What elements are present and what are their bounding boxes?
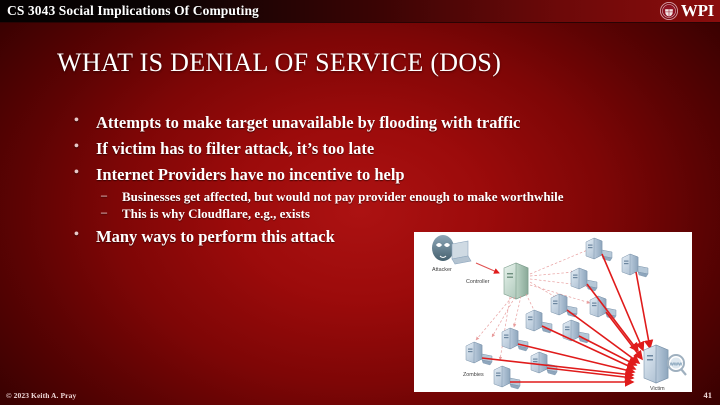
svg-text:WWW: WWW xyxy=(670,362,683,367)
bullet-text: Attempts to make target unavailable by f… xyxy=(96,113,520,132)
sub-bullet-item: Businesses get affected, but would not p… xyxy=(96,188,670,205)
slide-body: Attempts to make target unavailable by f… xyxy=(70,112,670,252)
bullet-text: If victim has to filter attack, it’s too… xyxy=(96,139,374,158)
bullet-item: Attempts to make target unavailable by f… xyxy=(70,112,670,135)
bullet-text: Many ways to perform this attack xyxy=(96,227,335,246)
wpi-seal-icon xyxy=(660,2,678,20)
sub-bullet-text: Businesses get affected, but would not p… xyxy=(122,189,564,204)
wpi-logo: WPI xyxy=(660,1,714,21)
sub-bullet-list: Businesses get affected, but would not p… xyxy=(96,188,670,222)
slide-header: CS 3043 Social Implications Of Computing… xyxy=(0,0,720,23)
victim-label: Victim xyxy=(650,386,665,392)
ddos-diagram-svg: Attacker Controller xyxy=(414,232,692,392)
slide-title: WHAT IS DENIAL OF SERVICE (DOS) xyxy=(57,48,501,78)
bullet-list: Attempts to make target unavailable by f… xyxy=(70,112,670,248)
slide-number: 41 xyxy=(704,390,713,400)
sub-bullet-text: This is why Cloudflare, e.g., exists xyxy=(122,206,310,221)
zombies-label: Zombies xyxy=(463,372,484,378)
course-title: CS 3043 Social Implications Of Computing xyxy=(0,3,259,19)
copyright-notice: © 2023 Keith A. Pray xyxy=(6,391,76,400)
bullet-item: If victim has to filter attack, it’s too… xyxy=(70,138,670,161)
wpi-wordmark: WPI xyxy=(681,2,714,20)
controller-icon xyxy=(504,263,528,299)
bullet-text: Internet Providers have no incentive to … xyxy=(96,165,405,184)
controller-label: Controller xyxy=(466,279,490,285)
bullet-item: Internet Providers have no incentive to … xyxy=(70,164,670,222)
attacker-label: Attacker xyxy=(432,267,452,273)
presentation-slide: CS 3043 Social Implications Of Computing… xyxy=(0,0,720,405)
sub-bullet-item: This is why Cloudflare, e.g., exists xyxy=(96,205,670,222)
ddos-diagram-image: Attacker Controller xyxy=(414,232,692,392)
